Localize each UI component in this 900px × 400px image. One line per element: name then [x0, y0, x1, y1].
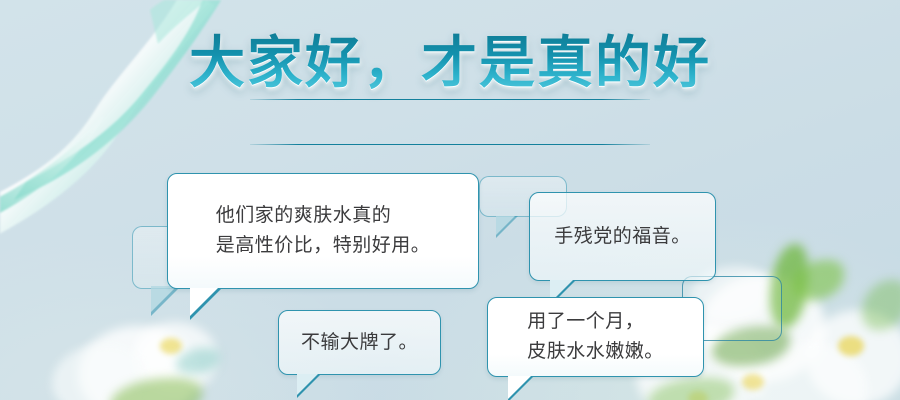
title-divider-upper: [250, 99, 650, 100]
poster-canvas: 大家好，才是真的好 不输大牌了。 手残党的福音。 用了一个月， 皮肤水水嫩嫩。 …: [0, 0, 900, 400]
bubble-text-review-secondary: 手残党的福音。: [554, 222, 691, 252]
speech-bubble-review-secondary[interactable]: 手残党的福音。: [529, 192, 716, 281]
bubble-text-review-fourth: 不输大牌了。: [301, 328, 418, 358]
speech-bubble-review-fourth[interactable]: 不输大牌了。: [278, 310, 441, 375]
bubble-text-review-third: 用了一个月， 皮肤水水嫩嫩。: [527, 307, 664, 367]
page-title: 大家好，才是真的好: [0, 32, 900, 94]
bubble-text-review-main: 他们家的爽肤水真的 是高性价比，特别好用。: [216, 201, 431, 261]
speech-bubble-review-third[interactable]: 用了一个月， 皮肤水水嫩嫩。: [487, 297, 704, 377]
title-divider-lower: [250, 144, 650, 145]
speech-bubble-review-main[interactable]: 他们家的爽肤水真的 是高性价比，特别好用。: [167, 173, 479, 289]
